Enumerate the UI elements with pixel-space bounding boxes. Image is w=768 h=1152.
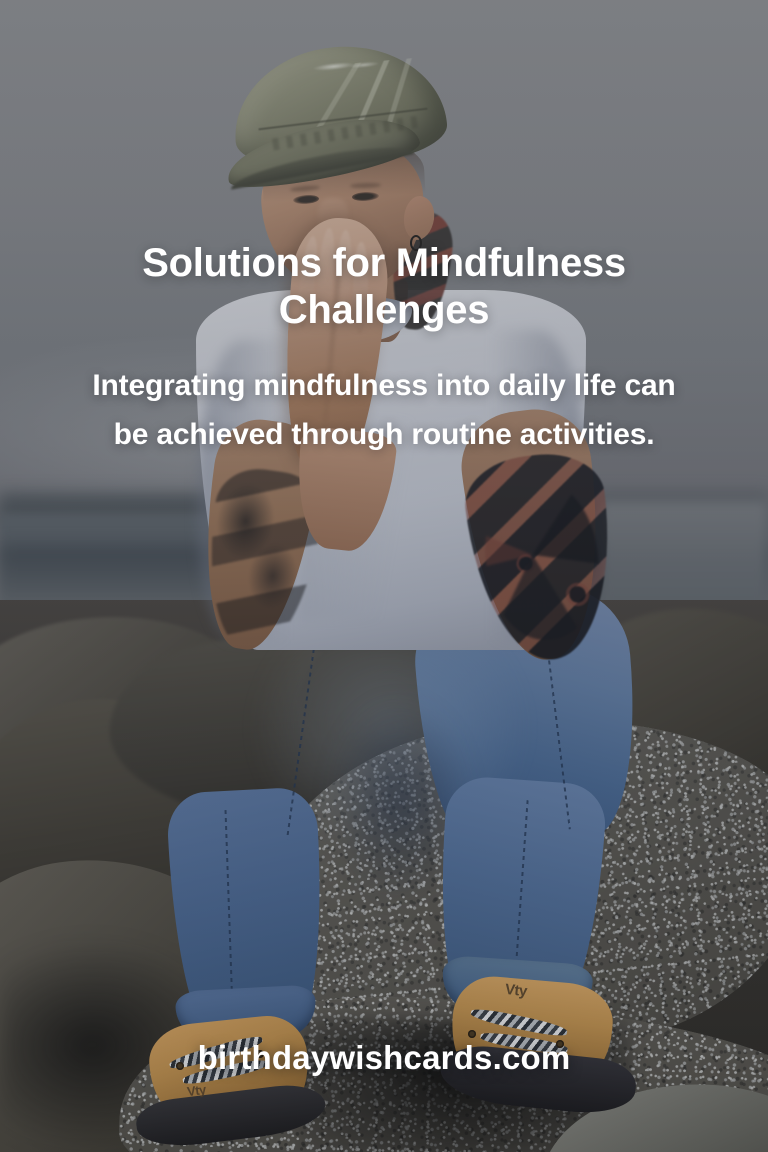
subtitle-text: Integrating mindfulness into daily life … — [80, 362, 688, 459]
website-url: birthdaywishcards.com — [64, 1040, 704, 1076]
page-title: Solutions for Mindfulness Challenges — [56, 240, 712, 334]
text-overlay: Solutions for Mindfulness Challenges Int… — [0, 0, 768, 1152]
quote-card: Vty Vty Solutions for Mindfulness Challe… — [0, 0, 768, 1152]
